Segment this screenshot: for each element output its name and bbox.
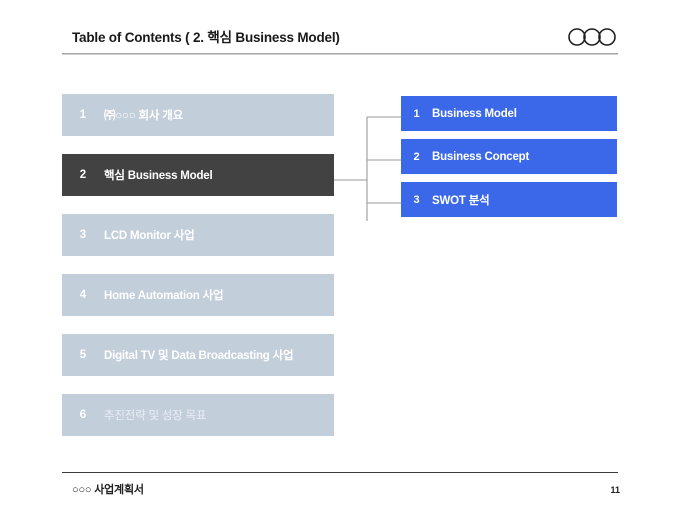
toc-item-number: 1 [62,109,104,121]
toc-item-number: 4 [62,289,104,301]
subsection-label: Business Concept [432,151,529,163]
toc-item-label: 추진전략 및 성장 목표 [104,407,206,423]
footer-divider [62,472,618,473]
page-title: Table of Contents ( 2. 핵심 Business Model… [72,26,340,46]
subsection-number: 3 [401,194,432,206]
subsection-item-3[interactable]: 3 SWOT 분석 [401,182,617,217]
subsection-number: 2 [401,151,432,163]
subsection-label: Business Model [432,108,517,120]
subsection-item-1[interactable]: 1 Business Model [401,96,617,131]
slide-canvas: Table of Contents ( 2. 핵심 Business Model… [0,0,680,510]
toc-item-6[interactable]: 6 추진전략 및 성장 목표 [62,394,334,436]
toc-item-number: 5 [62,349,104,361]
toc-item-label: ㈜○○○ 회사 개요 [104,107,183,123]
toc-item-3[interactable]: 3 LCD Monitor 사업 [62,214,334,256]
subsection-list: 1 Business Model 2 Business Concept 3 SW… [401,96,617,225]
toc-item-5[interactable]: 5 Digital TV 및 Data Broadcasting 사업 [62,334,334,376]
toc-item-label: 핵심 Business Model [104,167,213,183]
slide-header: Table of Contents ( 2. 핵심 Business Model… [0,26,680,56]
toc-item-label: LCD Monitor 사업 [104,227,195,243]
toc-item-4[interactable]: 4 Home Automation 사업 [62,274,334,316]
three-circles-logo-icon [564,28,622,46]
footer-document-title: ○○○ 사업계획서 [72,481,144,497]
toc-item-label: Digital TV 및 Data Broadcasting 사업 [104,347,293,363]
toc-item-number: 2 [62,169,104,181]
subsection-label: SWOT 분석 [432,192,489,208]
toc-item-label: Home Automation 사업 [104,287,223,303]
toc-item-1[interactable]: 1 ㈜○○○ 회사 개요 [62,94,334,136]
subsection-number: 1 [401,108,432,120]
table-of-contents-list: 1 ㈜○○○ 회사 개요 2 핵심 Business Model 3 LCD M… [62,94,334,454]
connector-bracket [334,94,402,229]
page-number: 11 [610,485,620,495]
subsection-item-2[interactable]: 2 Business Concept [401,139,617,174]
toc-item-2[interactable]: 2 핵심 Business Model [62,154,334,196]
header-divider [62,53,618,55]
toc-item-number: 3 [62,229,104,241]
toc-item-number: 6 [62,409,104,421]
